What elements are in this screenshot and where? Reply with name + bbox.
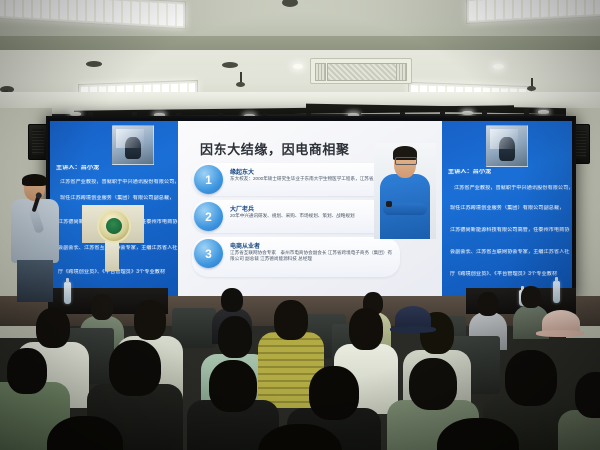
school-emblem-icon — [97, 209, 131, 243]
person-head — [309, 366, 359, 420]
presenter-person — [8, 176, 64, 301]
ac-grill — [327, 63, 397, 80]
ac-vent-right — [396, 63, 407, 81]
air-conditioner-unit — [310, 58, 412, 84]
ceiling-downlight-left — [293, 64, 303, 69]
audience-person — [566, 372, 600, 450]
side-panel-line-right: 江苏省产业教授，曾就职于中兴通讯股份有限公司， — [454, 185, 572, 192]
slide-item-body: 东大校友：2000年硕士研究生毕业于东南大学生物医学工程系，江苏省产业教授 — [230, 176, 396, 182]
person-head — [221, 288, 243, 312]
side-panel-right: 主讲人：吕小龙 江苏省产业教授，曾就职于中兴通讯股份有限公司， 现任江苏跨境创业… — [442, 121, 572, 298]
person-head — [209, 360, 257, 412]
emblem-core — [106, 218, 122, 234]
side-panel-line-left: 现任江苏跨境创业服务（集团）有限公司副总裁， — [60, 195, 178, 202]
side-panel-photo-right — [486, 125, 528, 167]
screenshot-root: 主讲人：吕小龙 江苏省产业教授，曾就职于中兴通讯股份有限公司， 现任江苏跨境创业… — [0, 0, 600, 450]
person-head — [47, 416, 123, 450]
person-head — [521, 286, 541, 308]
ac-vent-left — [315, 63, 326, 81]
slide-item-heading: 电商从业者 — [230, 241, 260, 250]
ceiling-vent-small-left — [86, 61, 102, 67]
slide-title: 因东大结缘，因电商相聚 — [200, 139, 350, 158]
person-head — [109, 340, 161, 396]
slide-speaker-photo — [374, 143, 436, 239]
slide-item-number: 1 — [194, 165, 223, 194]
audience-person-foreground — [430, 418, 526, 450]
presentation-slide[interactable]: 因东大结缘，因电商相聚 1 缘起东大 东大校友：2000年硕士研究生毕业于东南大… — [178, 121, 442, 298]
audience-area — [0, 286, 600, 450]
slide-list-item[interactable]: 3 电商从业者 江苏省互联网协会专家 泰州市电商协会副会长 江苏省跨境电子商务（… — [192, 237, 400, 277]
side-panel-photo-left — [112, 125, 154, 165]
side-panel-speaker-label-left: 主讲人：吕小龙 — [56, 165, 99, 172]
cap-brim — [390, 326, 436, 333]
glasses-icon — [395, 157, 417, 165]
slide-list-item[interactable]: 2 大厂老兵 20年中兴通讯研发、规划、采购、市场规划、策划、战略规划 — [192, 200, 400, 233]
person-head — [134, 300, 166, 340]
led-wall-content: 主讲人：吕小龙 江苏省产业教授，曾就职于中兴通讯股份有限公司， 现任江苏跨境创业… — [50, 121, 572, 298]
presenter-hair — [22, 174, 47, 186]
person-head — [91, 294, 113, 320]
person-head — [575, 372, 600, 418]
ceiling-light-tube — [469, 0, 600, 21]
person-head — [274, 300, 308, 340]
person-head — [36, 308, 70, 348]
side-panel-line-right: 厅《跨境创业员》、《平台管理员》3个专业教材 — [450, 271, 572, 278]
track-spotlight-glow — [462, 111, 473, 115]
audience-person-cap — [386, 306, 440, 366]
person-head — [478, 292, 499, 316]
slide-item-number: 2 — [194, 202, 223, 231]
wall-speaker-left — [28, 124, 48, 160]
side-panel-line-right: 会副会长、江苏省互联网协会专家，主编江苏省人社 — [450, 249, 572, 256]
slide-item-heading: 缘起东大 — [230, 167, 254, 176]
audience-person-foreground — [40, 416, 130, 450]
ceiling-downlight-right — [493, 64, 504, 69]
speaker-photo-watch — [386, 201, 392, 208]
slide-item-body: 江苏省互联网协会专家 泰州市电商协会副会长 江苏省跨境电子商务（集团）有限公司 … — [230, 250, 396, 262]
side-panel-left: 主讲人：吕小龙 江苏省产业教授，曾就职于中兴通讯股份有限公司， 现任江苏跨境创业… — [50, 121, 178, 298]
person-head — [218, 316, 252, 358]
person-head — [258, 424, 342, 450]
slide-item-number: 3 — [194, 239, 223, 268]
ceiling-sensor-head — [236, 82, 245, 87]
slide-item-body: 20年中兴通讯研发、规划、采购、市场规划、策划、战略规划 — [230, 213, 396, 219]
slide-item-heading: 大厂老兵 — [230, 204, 254, 213]
slide-list-item[interactable]: 1 缘起东大 东大校友：2000年硕士研究生毕业于东南大学生物医学工程系，江苏省… — [192, 163, 400, 196]
person-head — [7, 348, 47, 394]
cap-brim — [536, 330, 584, 337]
side-panel-line-right: 江苏德尚新能源科技有限公司高管，任泰州市电商协 — [450, 227, 572, 234]
podium-stem — [105, 241, 119, 271]
side-panel-speaker-label-right: 主讲人：吕小龙 — [448, 169, 491, 176]
track-spotlight-glow — [538, 110, 549, 114]
side-panel-line-right: 现任江苏跨境创业服务（集团）有限公司副总裁， — [450, 205, 572, 212]
person-head — [505, 350, 557, 406]
person-head — [349, 308, 383, 350]
ceiling-vent-small-mid — [222, 62, 238, 68]
person-head — [437, 418, 519, 450]
audience-person-foreground — [252, 424, 348, 450]
side-panel-line-left: 江苏省产业教授，曾就职于中兴通讯股份有限公司， — [60, 179, 178, 186]
led-video-wall[interactable]: 主讲人：吕小龙 江苏省产业教授，曾就职于中兴通讯股份有限公司， 现任江苏跨境创业… — [46, 116, 576, 302]
person-head — [409, 358, 457, 410]
ceiling-sensor-head-right — [527, 86, 536, 91]
